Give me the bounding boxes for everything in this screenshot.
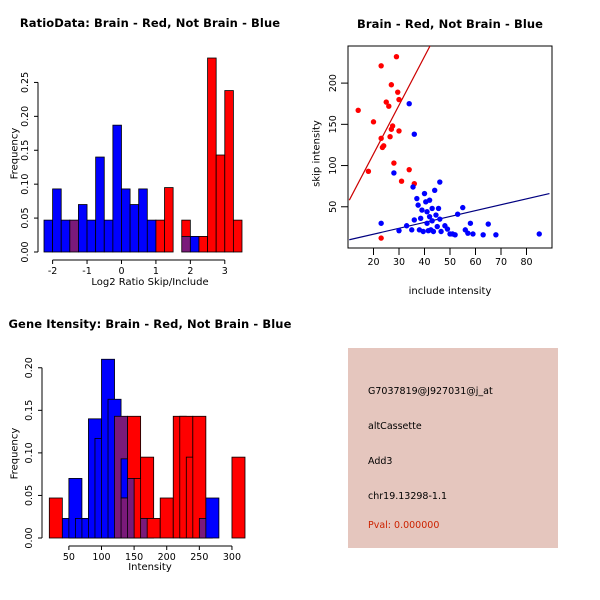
svg-text:0.20: 0.20 <box>24 357 35 378</box>
svg-text:0.25: 0.25 <box>20 72 31 93</box>
svg-text:150: 150 <box>328 115 339 133</box>
scatter-plot: 5010015020020304050607080 <box>300 0 600 300</box>
svg-text:0.00: 0.00 <box>20 241 31 262</box>
panel-gene-intensity-histogram: Gene Itensity: Brain - Red, Not Brain - … <box>0 300 300 600</box>
svg-text:20: 20 <box>367 257 379 268</box>
ratio-histogram-plot: 0.000.050.100.150.200.25-2-10123 <box>0 0 300 300</box>
ratio-histogram-ylabel: Frequency <box>10 99 21 209</box>
info-line-probe-id: G7037819@J927031@j_at <box>368 386 493 397</box>
scatter-ylabel: skip intensity <box>312 99 323 209</box>
svg-text:0.10: 0.10 <box>24 442 35 463</box>
svg-text:200: 200 <box>328 74 339 92</box>
gene-histogram-title: Gene Itensity: Brain - Red, Not Brain - … <box>0 317 300 331</box>
svg-text:0.10: 0.10 <box>20 174 31 195</box>
info-line-pvalue: Pval: 0.000000 <box>368 520 439 531</box>
svg-text:0.00: 0.00 <box>24 527 35 548</box>
info-line-locus: chr19.13298-1.1 <box>368 491 447 502</box>
plot-canvas: RatioData: Brain - Red, Not Brain - Blue… <box>0 0 600 600</box>
info-line-event-type: altCassette <box>368 421 422 432</box>
info-line-gene-symbol: Add3 <box>368 456 392 467</box>
svg-text:60: 60 <box>469 257 481 268</box>
svg-text:-1: -1 <box>82 266 91 277</box>
svg-text:30: 30 <box>393 257 405 268</box>
svg-text:-2: -2 <box>48 266 57 277</box>
svg-text:0.15: 0.15 <box>24 400 35 421</box>
ratio-histogram-xlabel: Log2 Ratio Skip/Include <box>0 277 300 288</box>
svg-text:0.20: 0.20 <box>20 106 31 127</box>
svg-text:1: 1 <box>153 266 159 277</box>
svg-text:80: 80 <box>520 257 532 268</box>
gene-histogram-xlabel: Intensity <box>0 562 300 573</box>
gene-histogram-plot: 0.000.050.100.150.2050100150200250300 <box>0 300 300 600</box>
svg-text:0.05: 0.05 <box>20 208 31 229</box>
svg-text:0.15: 0.15 <box>20 140 31 161</box>
ratio-histogram-title: RatioData: Brain - Red, Not Brain - Blue <box>0 16 300 30</box>
gene-info-panel: G7037819@J927031@j_at altCassette Add3 c… <box>348 348 558 548</box>
svg-text:50: 50 <box>328 201 339 213</box>
svg-text:0.05: 0.05 <box>24 485 35 506</box>
svg-text:0: 0 <box>118 266 124 277</box>
scatter-title: Brain - Red, Not Brain - Blue <box>300 17 600 31</box>
svg-text:100: 100 <box>328 156 339 174</box>
svg-text:70: 70 <box>495 257 507 268</box>
svg-text:3: 3 <box>222 266 228 277</box>
svg-text:40: 40 <box>418 257 430 268</box>
svg-text:50: 50 <box>444 257 456 268</box>
svg-text:2: 2 <box>187 266 193 277</box>
scatter-xlabel: include intensity <box>300 286 600 297</box>
panel-ratio-histogram: RatioData: Brain - Red, Not Brain - Blue… <box>0 0 300 300</box>
gene-histogram-ylabel: Frequency <box>10 399 21 509</box>
panel-intensity-scatter: Brain - Red, Not Brain - Blue 5010015020… <box>300 0 600 300</box>
